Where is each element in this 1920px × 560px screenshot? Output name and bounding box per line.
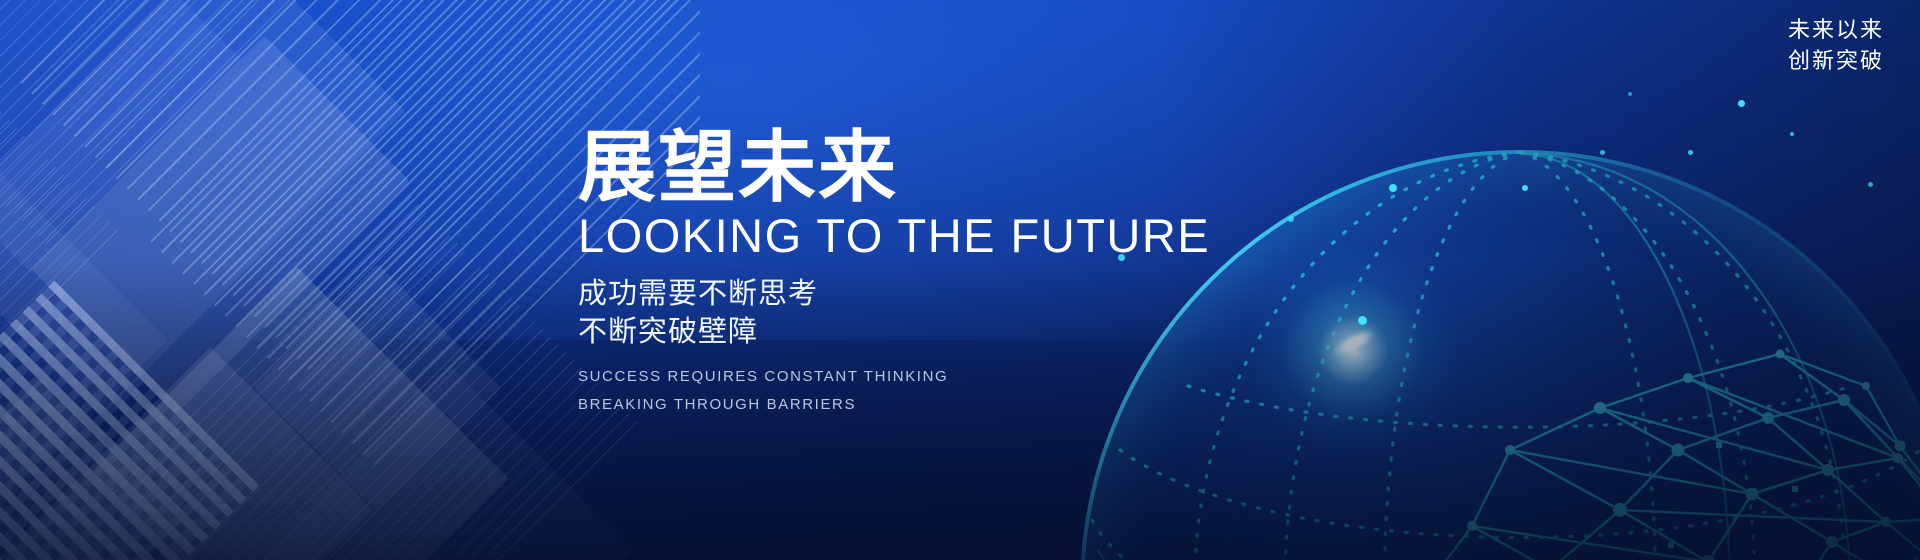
sparkle-dot	[1628, 92, 1632, 96]
tagline-chinese: 成功需要不断思考 不断突破壁障	[578, 276, 1198, 351]
sparkle-dot	[1688, 150, 1693, 155]
globe-nodes	[1267, 350, 1920, 560]
deco-stripes-lower	[106, 196, 643, 560]
deco-stripes-far-left	[0, 105, 120, 466]
globe-light-flare	[1248, 246, 1458, 456]
corner-slogan: 未来以来 创新突破	[1788, 14, 1884, 76]
sparkle-dot	[1600, 150, 1605, 155]
deco-quad-1	[0, 0, 242, 272]
corner-slogan-line-1: 未来以来	[1788, 14, 1884, 45]
globe-light-flare-core	[1330, 325, 1377, 362]
deco-quad-3	[31, 36, 409, 414]
tagline-english: SUCCESS REQUIRES CONSTANT THINKING BREAK…	[578, 363, 1198, 419]
hero-banner: 展望未来 LOOKING TO THE FUTURE 成功需要不断思考 不断突破…	[0, 0, 1920, 560]
deco-quad-5	[91, 266, 508, 560]
diamond-dot-grid	[0, 281, 259, 560]
sparkle-dot	[1288, 216, 1294, 222]
sparkle-dot	[1738, 100, 1745, 107]
background-right-shade	[1160, 0, 1920, 560]
deco-quad-9	[0, 379, 181, 560]
sparkle-dot	[1522, 185, 1528, 191]
sparkle-dot	[1389, 184, 1397, 192]
hero-copy: 展望未来 LOOKING TO THE FUTURE 成功需要不断思考 不断突破…	[578, 128, 1198, 419]
sparkle-dot	[1790, 132, 1794, 136]
sparkle-dot	[1358, 316, 1367, 325]
page-title: 展望未来	[578, 128, 1198, 206]
deco-stripes-upper-fine	[0, 0, 354, 249]
deco-quad-6	[0, 347, 373, 560]
page-subtitle-en: LOOKING TO THE FUTURE	[578, 212, 1198, 260]
corner-slogan-line-2: 创新突破	[1788, 45, 1884, 76]
deco-quad-4	[0, 142, 168, 538]
deco-quad-7	[254, 264, 501, 511]
tagline-english-line-2: BREAKING THROUGH BARRIERS	[578, 391, 1198, 419]
sparkle-dot	[1868, 182, 1873, 187]
tagline-chinese-line-1: 成功需要不断思考	[578, 276, 1198, 314]
deco-quad-2	[0, 0, 405, 415]
tagline-chinese-line-2: 不断突破壁障	[578, 314, 1198, 352]
tagline-english-line-1: SUCCESS REQUIRES CONSTANT THINKING	[578, 363, 1198, 391]
